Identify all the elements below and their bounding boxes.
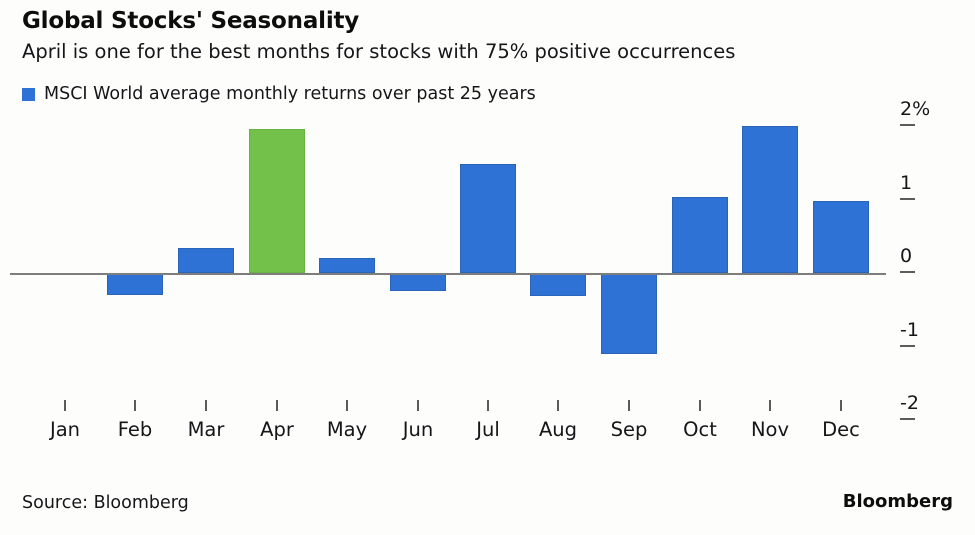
x-tick-mark [64,400,66,411]
bar-oct [672,197,728,273]
x-tick-mark [769,400,771,411]
x-tick-apr: Apr [247,400,307,441]
x-tick-mark [840,400,842,411]
x-tick-label: Jul [458,418,518,441]
x-tick-label: Aug [528,418,588,441]
page-subtitle: April is one for the best months for sto… [22,40,735,63]
x-tick-label: Sep [599,418,659,441]
bar-mar [178,248,234,273]
x-tick-label: Jan [35,418,95,441]
x-tick-feb: Feb [105,400,165,441]
y-tick: 1 [893,170,963,200]
bar-may [319,258,375,273]
x-tick-mark [487,400,489,411]
x-tick-jul: Jul [458,400,518,441]
source-note: Source: Bloomberg [22,493,189,513]
x-tick-label: Mar [176,418,236,441]
x-tick-mark [417,400,419,411]
y-tick-label: -2 [900,392,919,414]
bloomberg-brand: Bloomberg [843,491,953,512]
x-tick-label: Dec [811,418,871,441]
bar-sep [601,273,657,354]
x-tick-mark [699,400,701,411]
x-tick-mark [276,400,278,411]
y-tick-mark [900,124,915,126]
legend-square-icon [22,88,35,101]
plot-area [0,100,890,400]
bar-aug [530,273,586,296]
zero-baseline [10,273,886,275]
x-tick-mark [557,400,559,411]
x-tick-label: Nov [740,418,800,441]
y-tick-label: 0 [900,245,912,267]
page-title: Global Stocks' Seasonality [22,8,359,34]
y-tick-label: 2% [900,98,930,120]
bar-apr [249,129,305,273]
x-tick-may: May [317,400,377,441]
x-tick-nov: Nov [740,400,800,441]
x-tick-mark [134,400,136,411]
bar-feb [107,273,163,295]
x-tick-label: Jun [388,418,448,441]
x-tick-mar: Mar [176,400,236,441]
x-tick-label: Oct [670,418,730,441]
y-tick: -1 [893,317,963,347]
x-tick-dec: Dec [811,400,871,441]
x-axis: JanFebMarAprMayJunJulAugSepOctNovDec [0,400,890,460]
x-tick-jun: Jun [388,400,448,441]
x-tick-mark [205,400,207,411]
y-tick-mark [900,198,915,200]
y-tick-label: -1 [900,319,919,341]
x-tick-mark [346,400,348,411]
bar-dec [813,201,869,273]
bar-series [0,100,890,400]
y-tick: 0 [893,243,963,273]
y-tick: -2 [893,390,963,420]
bar-nov [742,126,798,273]
x-tick-oct: Oct [670,400,730,441]
x-tick-mark [628,400,630,411]
x-tick-jan: Jan [35,400,95,441]
chart-page: Global Stocks' Seasonality April is one … [0,0,975,535]
y-tick-mark [900,418,915,420]
y-tick: 2% [893,96,963,126]
x-tick-label: Feb [105,418,165,441]
y-tick-mark [900,345,915,347]
x-tick-sep: Sep [599,400,659,441]
y-tick-label: 1 [900,172,912,194]
x-tick-label: May [317,418,377,441]
x-tick-label: Apr [247,418,307,441]
bar-jun [390,273,446,291]
x-tick-aug: Aug [528,400,588,441]
bar-jul [460,164,516,273]
y-axis: 2%10-1-2 [893,100,973,430]
y-tick-mark [900,271,915,273]
